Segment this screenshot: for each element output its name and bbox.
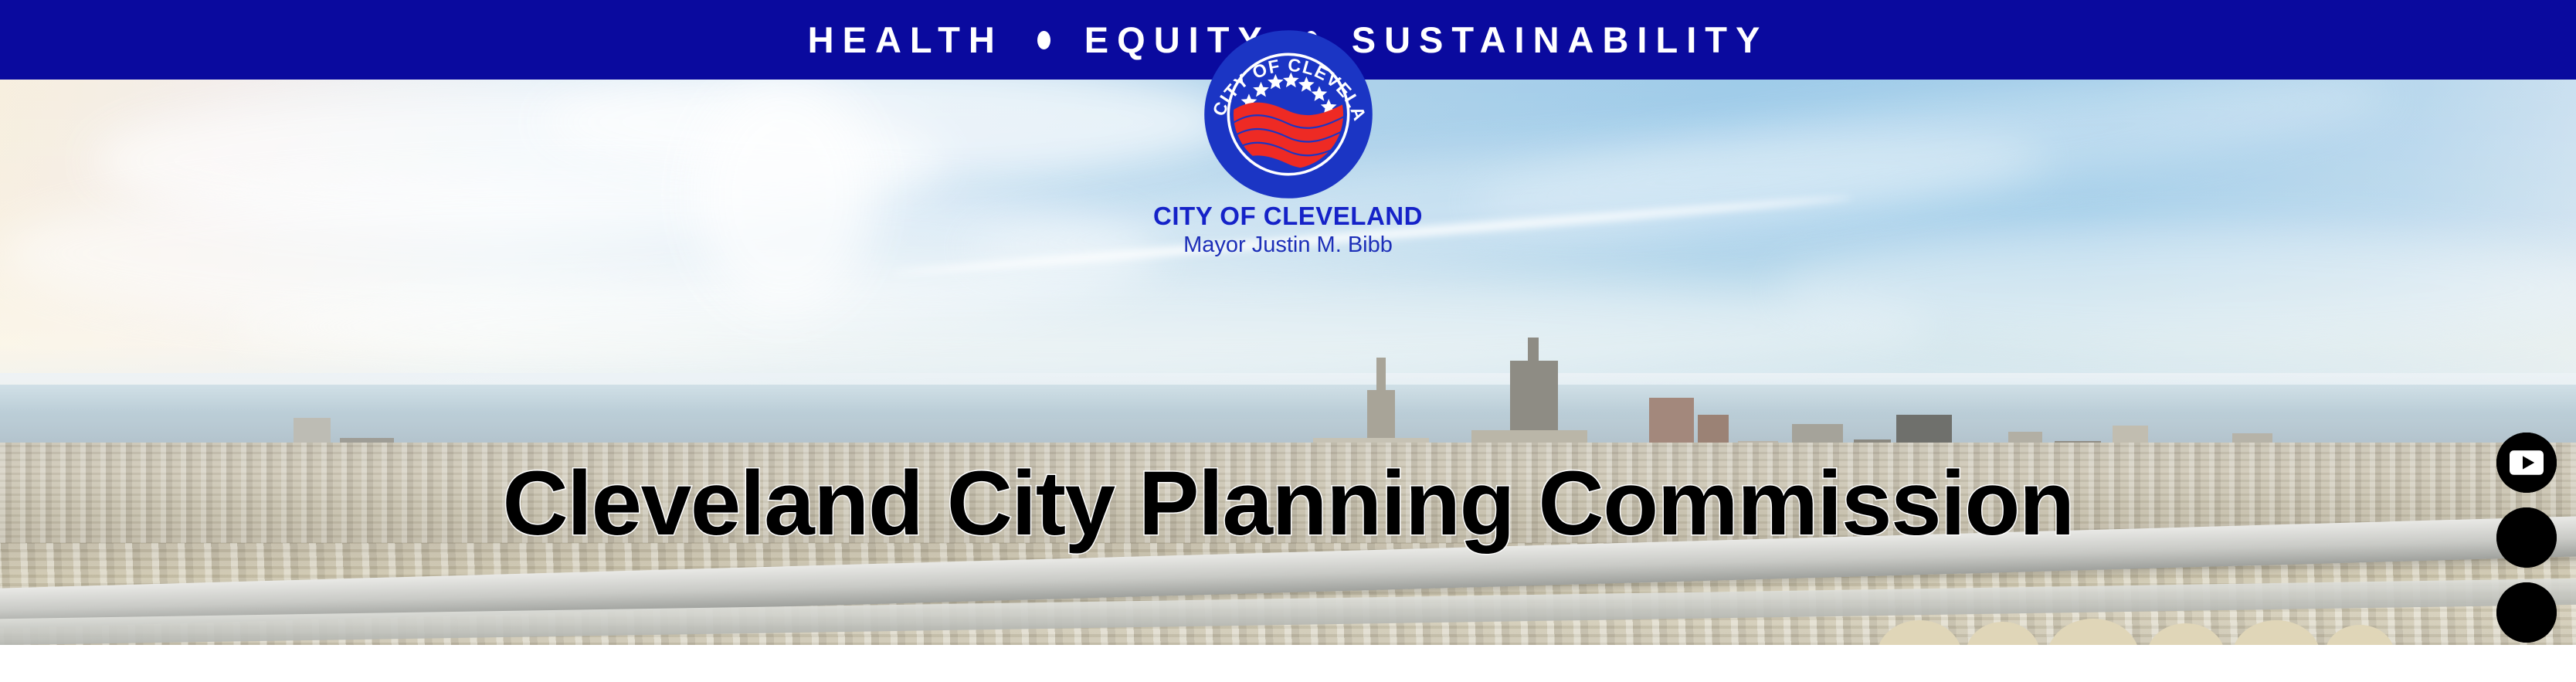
social-links-rail	[2496, 433, 2557, 643]
city-of-cleveland-seal-icon: CITY OF CLEVELAND OHIO	[1203, 29, 1374, 200]
city-logo-lockup[interactable]: CITY OF CLEVELAND OHIO	[1111, 29, 1466, 258]
instagram-icon[interactable]	[2496, 507, 2557, 568]
youtube-icon[interactable]	[2496, 433, 2557, 493]
tagline-dot-icon-1	[1037, 31, 1050, 49]
org-name: CITY OF CLEVELAND	[1111, 203, 1466, 230]
mayor-name: Mayor Justin M. Bibb	[1111, 233, 1466, 258]
page-title: Cleveland City Planning Commission	[0, 458, 2576, 549]
cloud-shape	[695, 80, 873, 311]
page-root: HEALTH EQUITY SUSTAINABILITY	[0, 0, 2576, 682]
tagline-word-health: HEALTH	[808, 22, 1003, 58]
facebook-icon[interactable]	[2496, 582, 2557, 643]
